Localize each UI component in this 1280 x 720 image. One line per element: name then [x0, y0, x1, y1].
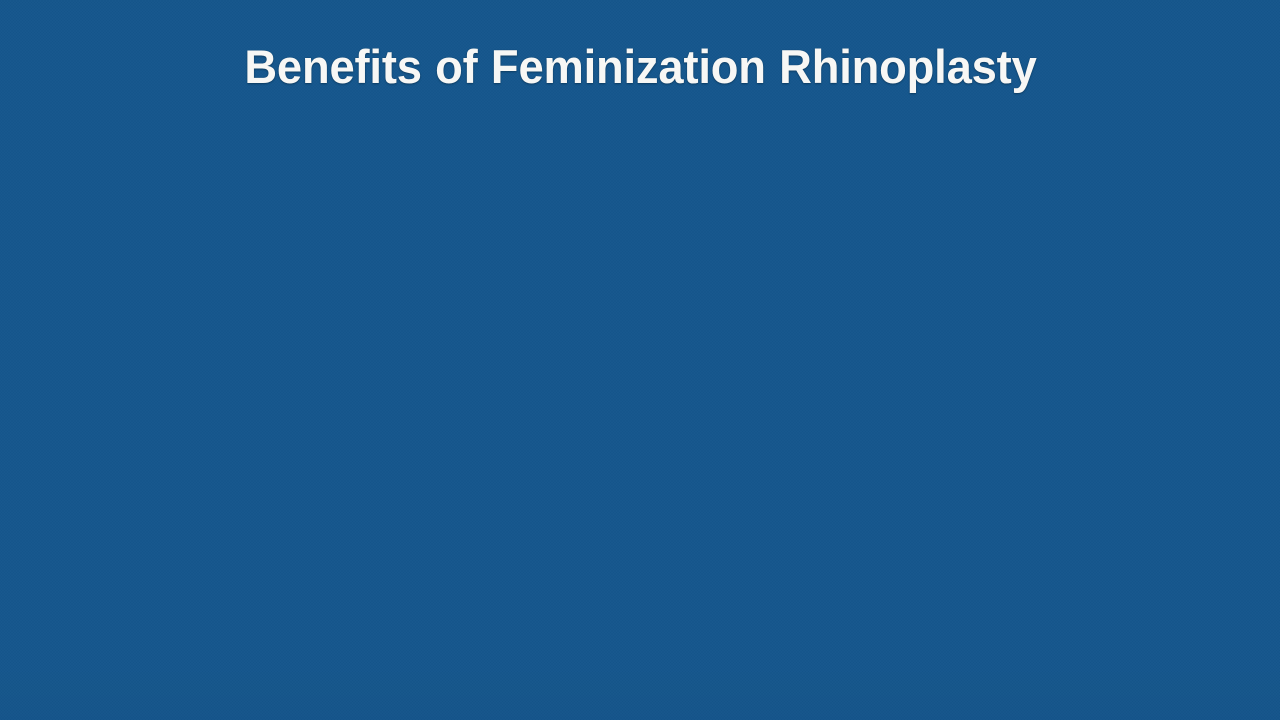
title-slide: Benefits of Feminization Rhinoplasty — [0, 0, 1280, 720]
title-block: Benefits of Feminization Rhinoplasty — [0, 38, 1280, 96]
slide-body-area — [0, 110, 1280, 720]
page-title: Benefits of Feminization Rhinoplasty — [244, 38, 1036, 96]
